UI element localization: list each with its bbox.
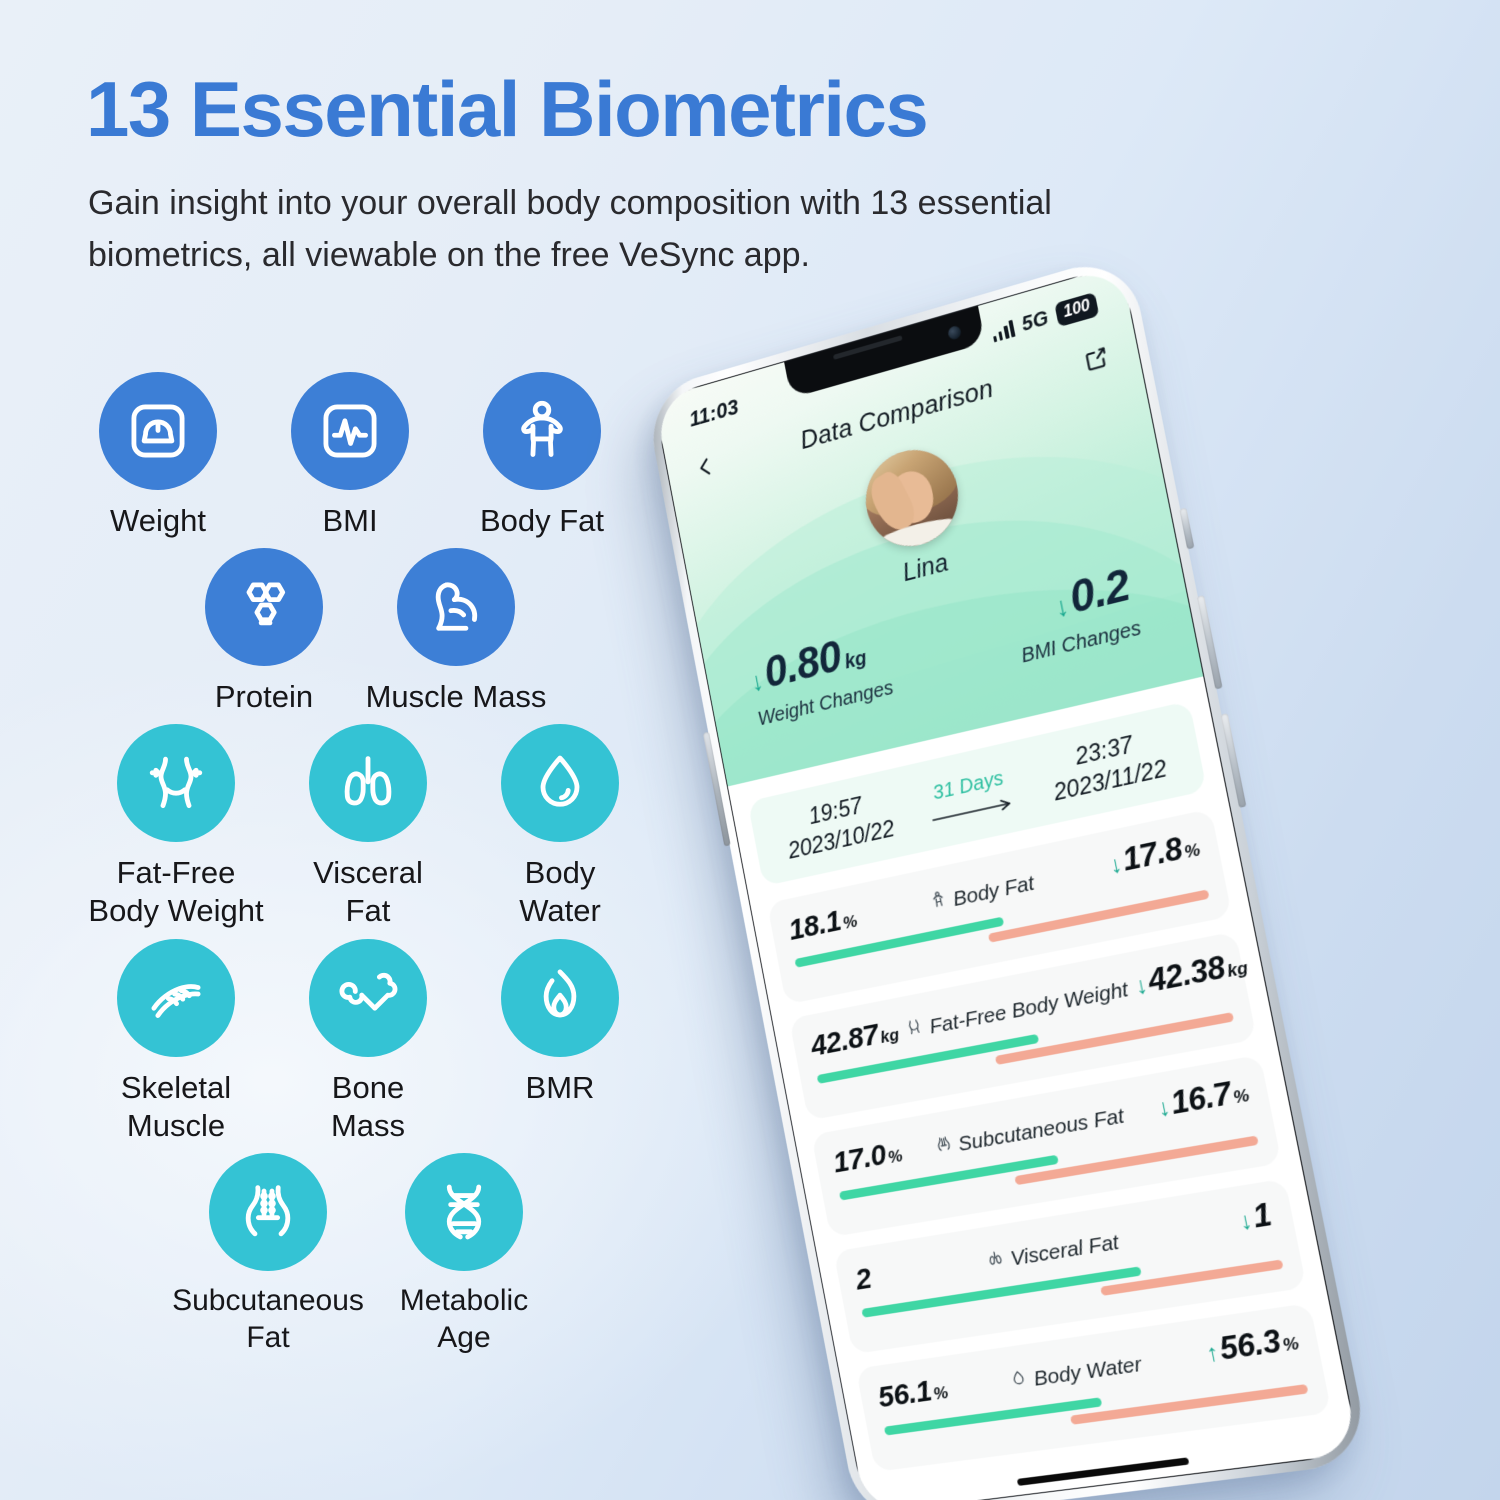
biometric-item-protein: Protein xyxy=(168,548,360,716)
lungs-icon xyxy=(309,724,427,842)
metric-old-value: 18.1% xyxy=(786,901,859,948)
metric-new-value: ↓1 xyxy=(1236,1196,1276,1238)
metric-rows: 18.1%Body Fat↓17.8%42.87kgFat-Free Body … xyxy=(767,809,1332,1472)
biometric-label: Body Fat xyxy=(480,502,604,540)
biometric-item-bmi: BMI xyxy=(254,372,446,540)
body-fat-icon xyxy=(927,889,950,917)
biometric-label: Skeletal Muscle xyxy=(121,1069,231,1145)
date-span-cell: 31 Days xyxy=(900,760,1042,832)
metric-old-value: 2 xyxy=(853,1262,876,1298)
weight-change-unit: kg xyxy=(843,647,869,674)
biometric-label: Weight xyxy=(110,502,206,540)
biometric-label: BMR xyxy=(526,1069,595,1107)
metric-new-value: ↑56.3% xyxy=(1203,1320,1302,1370)
metric-new-value: ↓16.7% xyxy=(1154,1072,1251,1124)
biometric-label: Visceral Fat xyxy=(313,854,423,930)
page-subtitle: Gain insight into your overall body comp… xyxy=(88,178,1163,281)
status-time: 11:03 xyxy=(687,394,740,432)
biometric-label: Protein xyxy=(215,678,313,716)
biometric-label: Metabolic Age xyxy=(400,1283,528,1357)
body-figure-icon xyxy=(483,372,601,490)
metric-old-value: 42.87kg xyxy=(808,1014,901,1064)
body-water-icon xyxy=(1008,1368,1031,1395)
front-camera-icon xyxy=(947,324,962,340)
down-arrow-icon: ↓ xyxy=(1053,592,1071,622)
visceral-fat-icon xyxy=(985,1248,1008,1276)
biometric-item-fat-free-body-weight: Fat-Free Body Weight xyxy=(80,724,272,930)
metric-old-value: 17.0% xyxy=(830,1135,904,1180)
metric-new-value: ↓42.38kg xyxy=(1132,945,1251,1003)
torso-icon xyxy=(209,1153,327,1271)
avatar[interactable] xyxy=(858,440,966,557)
fat-free-weight-icon xyxy=(904,1016,927,1044)
biometric-label: Bone Mass xyxy=(331,1069,405,1145)
cellular-signal-icon xyxy=(991,319,1015,342)
battery-icon: 100 xyxy=(1055,292,1100,327)
metric-name: Body Water xyxy=(1008,1352,1144,1395)
biometric-item-metabolic-age: Metabolic Age xyxy=(366,1153,562,1357)
biometric-item-skeletal-muscle: Skeletal Muscle xyxy=(80,939,272,1145)
metric-name: Body Fat xyxy=(927,871,1036,917)
biometric-item-visceral-fat: Visceral Fat xyxy=(272,724,464,930)
molecule-icon xyxy=(205,548,323,666)
biometric-item-muscle-mass: Muscle Mass xyxy=(360,548,552,716)
bar-end xyxy=(1100,1259,1283,1295)
biometric-label: Subcutaneous Fat xyxy=(172,1283,364,1357)
end-date-cell: 23:37 2023/11/22 xyxy=(1032,721,1184,809)
biometric-item-subcutaneous-fat: Subcutaneous Fat xyxy=(170,1153,366,1357)
biometric-label: BMI xyxy=(322,502,377,540)
share-icon[interactable] xyxy=(1079,339,1115,377)
metric-name: Visceral Fat xyxy=(985,1230,1122,1276)
biometric-label: Fat-Free Body Weight xyxy=(88,854,263,930)
bmi-chart-icon xyxy=(291,372,409,490)
comparison-list: 19:57 2023/10/22 31 Days 23:37 2023/11/2… xyxy=(728,676,1359,1500)
phone-mockup: 11:03 5G 100 Data Comparison xyxy=(598,268,1378,1500)
page-title: 13 Essential Biometrics xyxy=(86,64,927,155)
dna-icon xyxy=(405,1153,523,1271)
flexed-arm-icon xyxy=(397,548,515,666)
start-date-cell: 19:57 2023/10/22 xyxy=(768,783,909,867)
scale-icon xyxy=(99,372,217,490)
muscle-fiber-icon xyxy=(117,939,235,1057)
biometric-label: Muscle Mass xyxy=(366,678,547,716)
bar-end xyxy=(1070,1384,1309,1425)
metric-new-value: ↓17.8% xyxy=(1106,827,1202,882)
biometric-label: Body Water xyxy=(519,854,601,930)
network-label: 5G xyxy=(1020,306,1050,336)
subcutaneous-fat-icon xyxy=(932,1133,955,1161)
bone-joint-icon xyxy=(309,939,427,1057)
metric-old-value: 56.1% xyxy=(875,1372,950,1415)
waist-icon xyxy=(117,724,235,842)
promo-banner: 13 Essential Biometrics Gain insight int… xyxy=(0,0,1500,1500)
biometric-item-weight: Weight xyxy=(62,372,254,540)
biometric-item-bone-mass: Bone Mass xyxy=(272,939,464,1145)
down-arrow-icon: ↓ xyxy=(749,668,766,697)
